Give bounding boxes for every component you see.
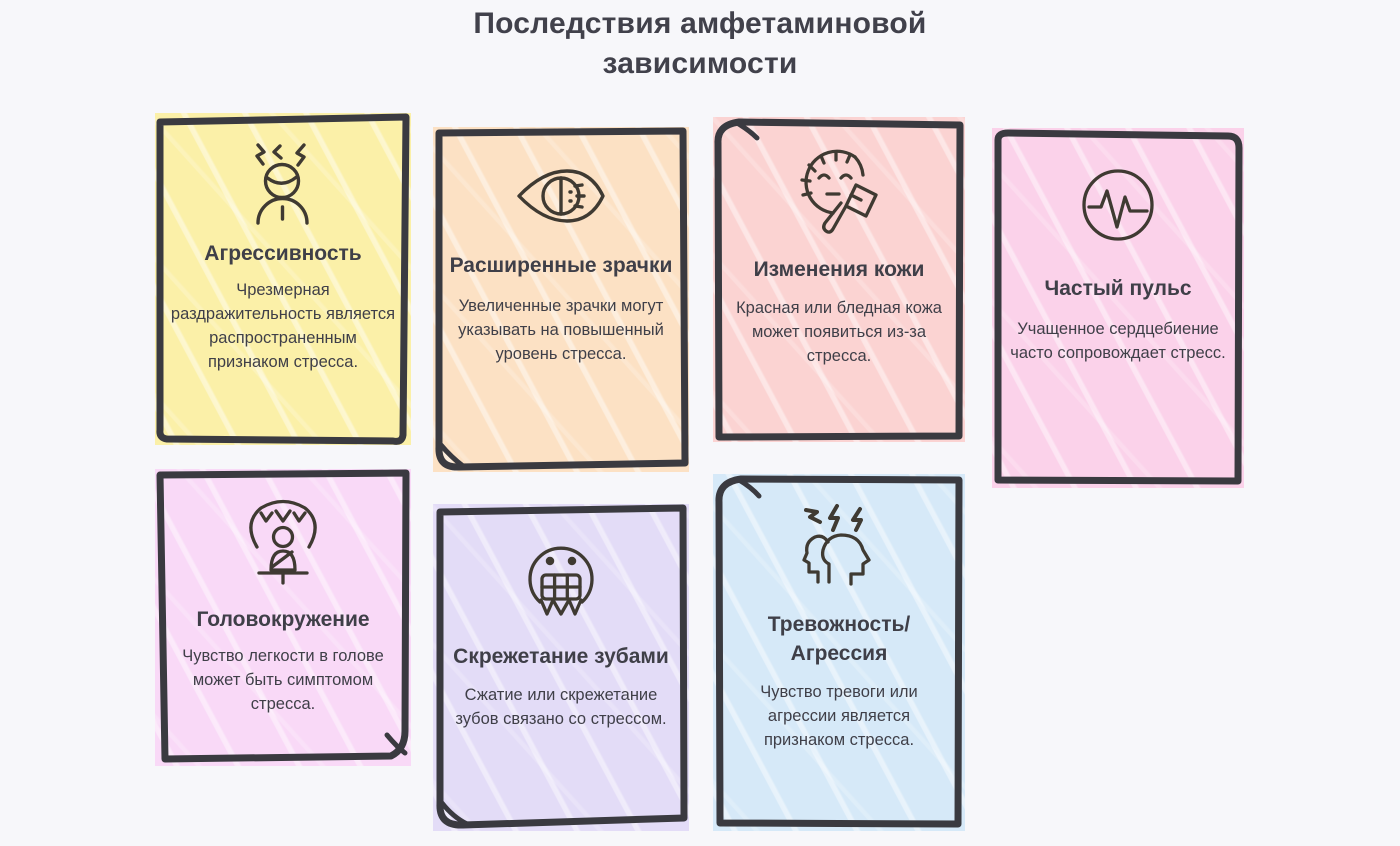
card-title: Частый пульс (1034, 274, 1201, 303)
card-title: Тревожность/ Агрессия (713, 610, 965, 668)
face-makeup-brush-icon (793, 143, 885, 237)
heartbeat-pulse-icon (1077, 164, 1159, 246)
card-dilated-pupils[interactable]: Расширенные зрачки Увеличенные зрачки мо… (433, 127, 689, 472)
card-description: Сжатие или скрежетание зубов связано со … (433, 683, 689, 731)
page-title-line-2: зависимости (0, 44, 1400, 84)
card-description: Чувство тревоги или агрессии является пр… (713, 680, 965, 752)
two-heads-lightning-icon (793, 502, 885, 588)
card-title: Изменения кожи (744, 255, 935, 284)
angry-person-icon (241, 141, 325, 227)
page-title: Последствия амфетаминовой зависимости (0, 4, 1400, 84)
card-description: Чрезмерная раздражительность является ра… (155, 278, 411, 374)
card-description: Чувство легкости в голове может быть сим… (155, 644, 411, 716)
eye-dilated-pupil-icon (513, 165, 609, 227)
card-description: Красная или бледная кожа может появиться… (713, 296, 965, 368)
card-description: Учащенное сердцебиение часто сопровождае… (992, 317, 1244, 365)
card-teeth-grinding[interactable]: Скрежетание зубами Сжатие или скрежетани… (433, 504, 689, 831)
card-title: Головокружение (186, 605, 379, 634)
card-title: Расширенные зрачки (440, 251, 683, 280)
page-title-line-1: Последствия амфетаминовой (0, 4, 1400, 44)
dizzy-person-icon (237, 497, 329, 593)
card-title: Скрежетание зубами (443, 642, 679, 671)
card-skin-changes[interactable]: Изменения кожи Красная или бледная кожа … (713, 117, 965, 442)
grinding-teeth-face-icon (517, 534, 605, 620)
card-rapid-pulse[interactable]: Частый пульс Учащенное сердцебиение част… (992, 128, 1244, 488)
card-anxiety-aggression[interactable]: Тревожность/ Агрессия Чувство тревоги ил… (713, 474, 965, 831)
card-aggressiveness[interactable]: Агрессивность Чрезмерная раздражительнос… (155, 113, 411, 445)
card-dizziness[interactable]: Головокружение Чувство легкости в голове… (155, 469, 411, 766)
card-description: Увеличенные зрачки могут указывать на по… (433, 294, 689, 366)
card-title: Агрессивность (194, 239, 371, 268)
infographic-canvas: Последствия амфетаминовой зависимости (0, 0, 1400, 846)
